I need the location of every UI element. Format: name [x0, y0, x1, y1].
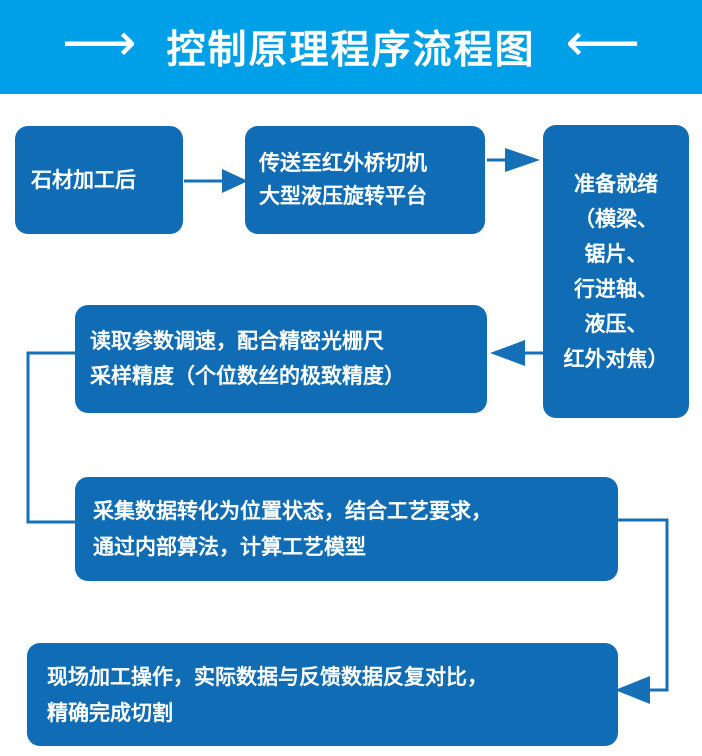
- flow-node-read-parameters-adjust-speed[interactable]: 读取参数调速，配合精密光栅尺 采样精度（个位数丝的极致精度）: [75, 305, 487, 413]
- flow-node-line: 石材加工后: [31, 165, 167, 195]
- edge-node5-to-node6: [615, 520, 667, 704]
- flow-node-line: （横梁、: [574, 202, 658, 237]
- flow-node-ready-state-checklist[interactable]: 准备就绪 （横梁、 锯片、 行进轴、 液压、 红外对焦）: [543, 125, 689, 418]
- edge-node3-to-node4: [490, 340, 543, 366]
- edge-node2-to-node3: [487, 148, 540, 172]
- flow-node-line: 准备就绪: [574, 167, 658, 202]
- flow-node-line: 读取参数调速，配合精密光栅尺: [90, 324, 472, 359]
- flow-node-line: 红外对焦）: [564, 342, 669, 377]
- flow-node-line: 精确完成切割: [47, 695, 598, 731]
- flow-node-line: 锯片、: [585, 237, 648, 272]
- flow-node-line: 液压、: [585, 307, 648, 342]
- flow-node-line: 大型液压旋转平台: [259, 180, 471, 213]
- flow-node-onsite-machining-precise-cut[interactable]: 现场加工操作，实际数据与反馈数据反复对比， 精确完成切割: [27, 643, 618, 746]
- flow-node-line: 通过内部算法，计算工艺模型: [93, 529, 600, 565]
- edge-node1-to-node2: [184, 169, 248, 193]
- flow-node-line: 现场加工操作，实际数据与反馈数据反复对比，: [47, 659, 598, 695]
- arrow-right-glyph-icon: ⟶: [62, 17, 137, 69]
- flow-node-stone-processing-done[interactable]: 石材加工后: [15, 126, 183, 234]
- flow-node-line: 行进轴、: [574, 272, 658, 307]
- flow-node-line: 采样精度（个位数丝的极致精度）: [90, 359, 472, 394]
- flow-node-line: 传送至红外桥切机: [259, 147, 471, 180]
- flow-node-line: 采集数据转化为位置状态，结合工艺要求，: [93, 493, 600, 529]
- flow-node-convert-data-compute-process-model[interactable]: 采集数据转化为位置状态，结合工艺要求， 通过内部算法，计算工艺模型: [75, 477, 618, 581]
- arrow-left-glyph-icon: ⟵: [566, 17, 641, 69]
- header-banner: ⟶ 控制原理程序流程图 ⟵: [0, 0, 702, 94]
- page-title: 控制原理程序流程图: [166, 19, 535, 75]
- flow-node-convey-to-infrared-bridge-cutter[interactable]: 传送至红外桥切机 大型液压旋转平台: [245, 126, 485, 234]
